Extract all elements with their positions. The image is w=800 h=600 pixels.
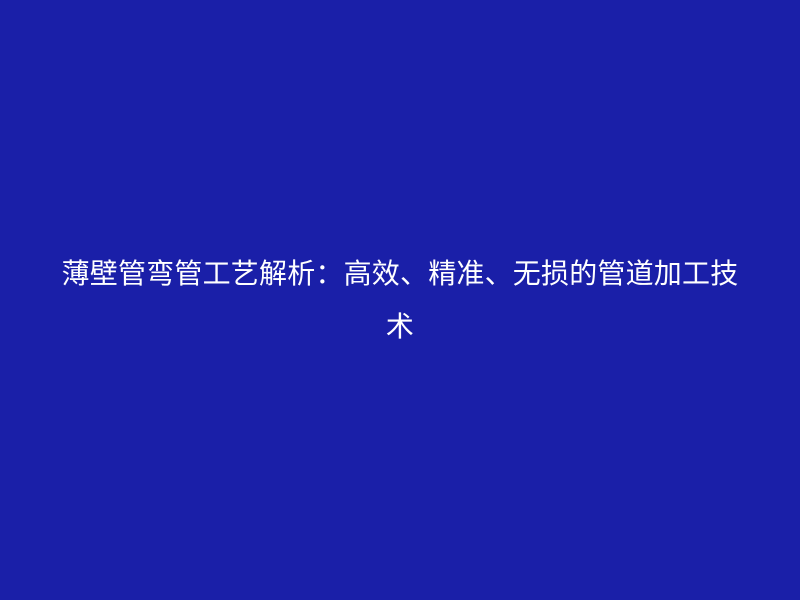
title-card: 薄壁管弯管工艺解析：高效、精准、无损的管道加工技术: [0, 0, 800, 600]
page-title: 薄壁管弯管工艺解析：高效、精准、无损的管道加工技术: [50, 247, 750, 353]
title-block: 薄壁管弯管工艺解析：高效、精准、无损的管道加工技术: [50, 247, 750, 353]
